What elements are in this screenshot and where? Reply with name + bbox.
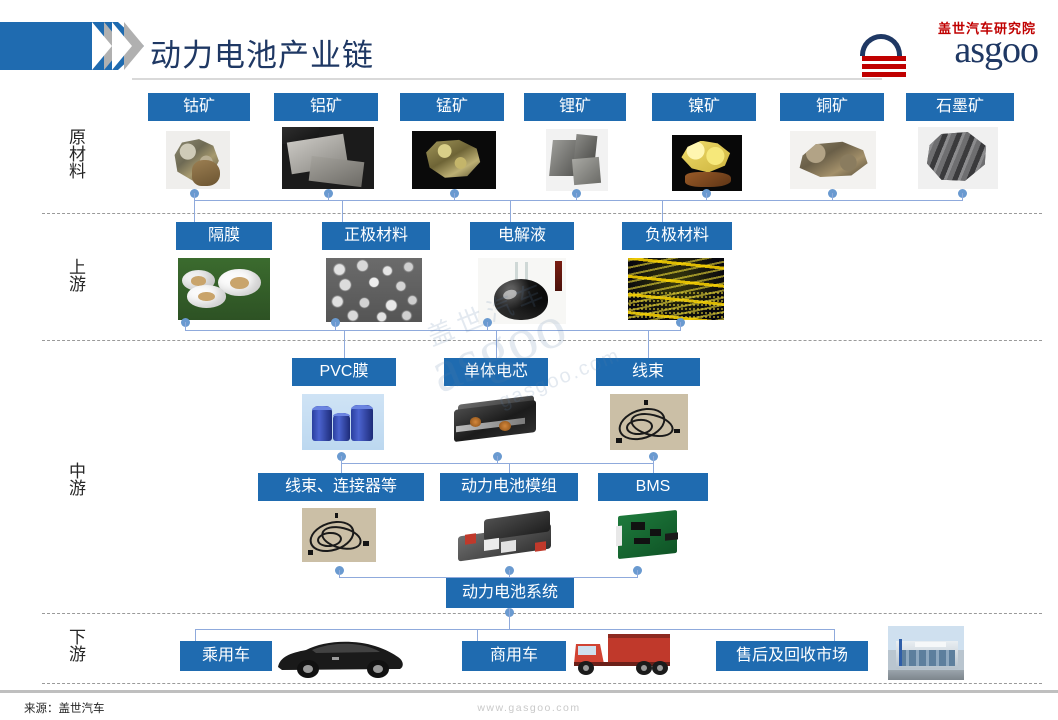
connector-into-anode <box>662 200 663 222</box>
node-battery-cell[interactable]: 单体电芯 <box>444 358 548 386</box>
page-header: 动力电池产业链 盖世汽车研究院 asgoo <box>0 0 1058 88</box>
nickel-ore-image <box>672 135 742 191</box>
chevron-notch <box>92 22 112 70</box>
node-electrolyte[interactable]: 电解液 <box>470 222 574 250</box>
connector-drop <box>335 322 336 331</box>
connector-into-cathode <box>342 200 343 222</box>
node-graphite-ore[interactable]: 石墨矿 <box>906 93 1014 121</box>
node-cobalt-ore[interactable]: 钴矿 <box>148 93 250 121</box>
divider-raw-upstream <box>42 213 1042 214</box>
manganese-ore-image <box>412 131 496 189</box>
connector-upstream-bus <box>185 330 680 331</box>
copper-ore-image <box>790 131 876 189</box>
node-commercial-vehicle[interactable]: 商用车 <box>462 641 566 671</box>
aluminium-ore-image <box>282 127 374 189</box>
connector-drop <box>185 322 186 331</box>
connector-into-harness <box>648 330 649 358</box>
node-aftermarket-recycling[interactable]: 售后及回收市场 <box>716 641 868 671</box>
pvc-film-cells-image <box>302 394 384 450</box>
connector-into-pvc <box>344 330 345 358</box>
node-separator[interactable]: 隔膜 <box>176 222 272 250</box>
node-pvc-film[interactable]: PVC膜 <box>292 358 396 386</box>
logo-stripe <box>862 56 906 61</box>
lithium-ore-image <box>546 129 608 191</box>
divider-upstream-midstream <box>42 340 1042 341</box>
chevron-notch <box>112 22 132 70</box>
battery-pack-module-image <box>452 504 558 566</box>
footer-url: www.gasgoo.com <box>0 702 1058 714</box>
node-lithium-ore[interactable]: 锂矿 <box>524 93 626 121</box>
connector-drop <box>328 193 329 201</box>
footer-divider <box>0 690 1058 693</box>
node-cathode-material[interactable]: 正极材料 <box>322 222 430 250</box>
row-label-raw-materials: 原材料 <box>58 128 92 179</box>
harness-connector-image <box>302 508 376 562</box>
connector-drop <box>832 193 833 201</box>
node-bms[interactable]: BMS <box>598 473 708 501</box>
row-label-upstream: 上游 <box>58 258 92 292</box>
divider-midstream-downstream <box>42 613 1042 614</box>
connector-into-commercial-vehicle <box>477 629 478 641</box>
connector-drop <box>962 193 963 201</box>
graphite-ore-image <box>918 127 998 189</box>
connector-drop <box>487 322 488 331</box>
passenger-car-image <box>272 633 408 679</box>
electrolyte-image <box>478 258 566 324</box>
connector-drop <box>637 570 638 578</box>
node-aluminium-ore[interactable]: 铝矿 <box>274 93 378 121</box>
node-nickel-ore[interactable]: 镍矿 <box>652 93 756 121</box>
divider-bottom <box>42 683 1042 684</box>
bms-pcb-image <box>612 506 686 564</box>
connector-drop <box>576 193 577 201</box>
logo-stripe <box>862 64 906 69</box>
connector-into-harness-connector <box>341 463 342 473</box>
connector-into-separator <box>194 200 195 222</box>
row-label-midstream: 中游 <box>58 462 92 496</box>
connector-into-aftermarket <box>834 629 835 641</box>
battery-cell-image <box>448 390 546 452</box>
connector-into-module <box>509 463 510 473</box>
node-battery-system[interactable]: 动力电池系统 <box>446 578 574 608</box>
logo-arc-icon <box>860 34 902 56</box>
node-harness-connectors[interactable]: 线束、连接器等 <box>258 473 424 501</box>
connector-drop <box>454 193 455 201</box>
separator-film-image <box>178 258 270 320</box>
logo-wordmark: asgoo <box>954 30 1038 70</box>
row-label-downstream: 下游 <box>58 628 92 662</box>
dealership-building-image <box>888 626 964 680</box>
cathode-material-image <box>326 258 422 322</box>
commercial-truck-image <box>566 626 678 678</box>
node-copper-ore[interactable]: 铜矿 <box>780 93 884 121</box>
connector-drop <box>339 570 340 578</box>
node-battery-module[interactable]: 动力电池模组 <box>440 473 578 501</box>
connector-into-electrolyte <box>510 200 511 222</box>
node-passenger-vehicle[interactable]: 乘用车 <box>180 641 272 671</box>
connector-into-passenger-car <box>195 629 196 641</box>
header-divider <box>132 78 882 80</box>
gasgoo-logo: 盖世汽车研究院 asgoo <box>860 18 1038 76</box>
connector-downstream-bus <box>195 629 835 630</box>
node-anode-material[interactable]: 负极材料 <box>622 222 732 250</box>
connector-drop <box>680 322 681 331</box>
connector-drop <box>706 193 707 201</box>
node-wire-harness[interactable]: 线束 <box>596 358 700 386</box>
connector-raw-bus <box>194 200 962 201</box>
wire-harness-image <box>610 394 688 450</box>
node-manganese-ore[interactable]: 锰矿 <box>400 93 504 121</box>
cobalt-ore-image <box>166 131 230 189</box>
connector-drop <box>497 456 498 464</box>
logo-stripe <box>862 72 906 77</box>
connector-into-cell <box>496 330 497 358</box>
connector-system-down <box>509 608 510 630</box>
anode-material-image <box>628 258 724 320</box>
page-title: 动力电池产业链 <box>150 30 374 75</box>
connector-into-bms <box>653 463 654 473</box>
